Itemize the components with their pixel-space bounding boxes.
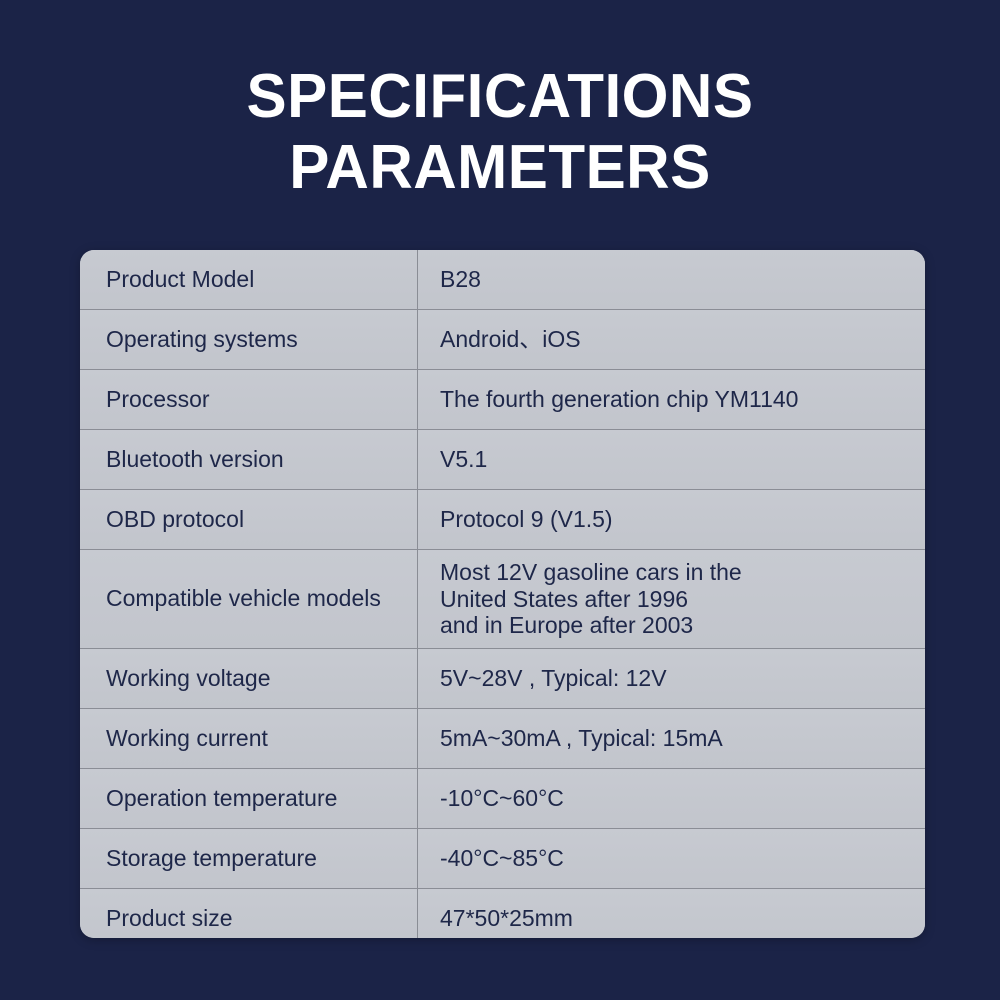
- spec-value: Most 12V gasoline cars in the United Sta…: [418, 550, 925, 648]
- spec-label: Compatible vehicle models: [80, 550, 418, 648]
- spec-label: Processor: [80, 370, 418, 429]
- table-row: Working voltage 5V~28V , Typical: 12V: [80, 649, 925, 709]
- table-row: Storage temperature -40°C~85°C: [80, 829, 925, 889]
- spec-value: -40°C~85°C: [418, 829, 925, 888]
- spec-value: 5mA~30mA , Typical: 15mA: [418, 709, 925, 768]
- spec-label: Working voltage: [80, 649, 418, 708]
- table-row: Product size 47*50*25mm: [80, 889, 925, 938]
- table-row: Product Model B28: [80, 250, 925, 310]
- spec-label: Working current: [80, 709, 418, 768]
- spec-label: Storage temperature: [80, 829, 418, 888]
- spec-label: Bluetooth version: [80, 430, 418, 489]
- table-row: Compatible vehicle models Most 12V gasol…: [80, 550, 925, 649]
- page-title: SPECIFICATIONS PARAMETERS: [0, 62, 1000, 203]
- table-row: Operating systems Android、iOS: [80, 310, 925, 370]
- specifications-page: SPECIFICATIONS PARAMETERS Product Model …: [0, 0, 1000, 1000]
- spec-value: 5V~28V , Typical: 12V: [418, 649, 925, 708]
- page-title-line-1: SPECIFICATIONS: [15, 62, 985, 133]
- spec-value: B28: [418, 250, 925, 309]
- spec-value: -10°C~60°C: [418, 769, 925, 828]
- table-row: Processor The fourth generation chip YM1…: [80, 370, 925, 430]
- spec-value: V5.1: [418, 430, 925, 489]
- spec-value: The fourth generation chip YM1140: [418, 370, 925, 429]
- spec-label: OBD protocol: [80, 490, 418, 549]
- spec-value: 47*50*25mm: [418, 889, 925, 938]
- table-row: Bluetooth version V5.1: [80, 430, 925, 490]
- page-title-line-2: PARAMETERS: [15, 133, 985, 204]
- table-row: OBD protocol Protocol 9 (V1.5): [80, 490, 925, 550]
- table-row: Working current 5mA~30mA , Typical: 15mA: [80, 709, 925, 769]
- spec-label: Product size: [80, 889, 418, 938]
- specifications-table: Product Model B28 Operating systems Andr…: [80, 250, 925, 938]
- spec-label: Product Model: [80, 250, 418, 309]
- spec-value: Protocol 9 (V1.5): [418, 490, 925, 549]
- spec-label: Operation temperature: [80, 769, 418, 828]
- table-row: Operation temperature -10°C~60°C: [80, 769, 925, 829]
- spec-label: Operating systems: [80, 310, 418, 369]
- spec-value: Android、iOS: [418, 310, 925, 369]
